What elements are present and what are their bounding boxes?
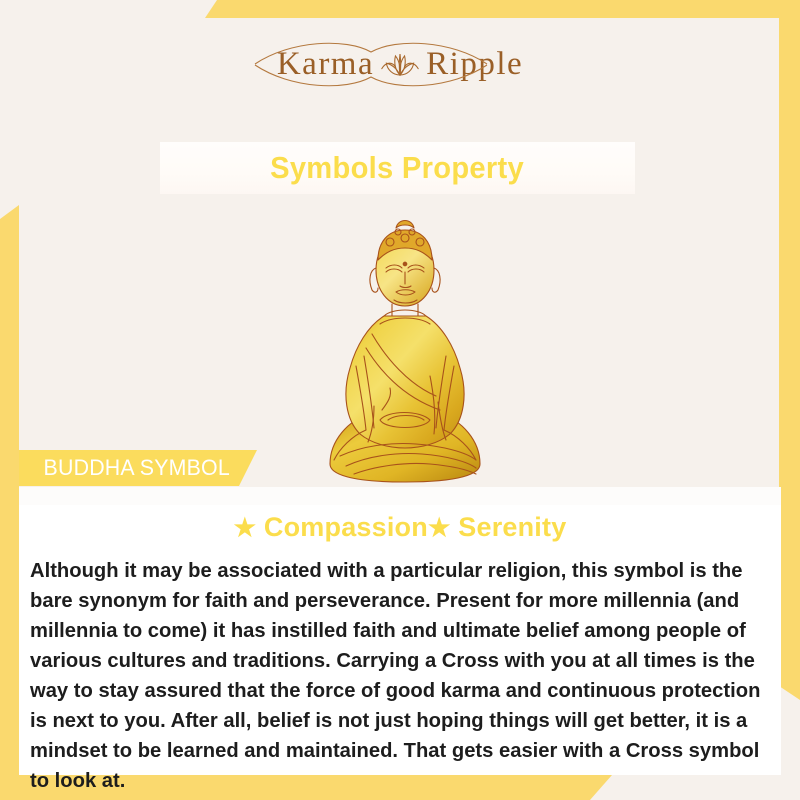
frame-top-bar [205,0,800,18]
buddha-statue-svg [320,198,490,493]
frame-left-bar [0,205,19,800]
brand-logo-text: Karma Ripple [277,48,523,81]
trait-serenity: Serenity [458,512,566,542]
traits-line: ★ Compassion★ Serenity [0,512,800,543]
poster-canvas: Karma Ripple [0,0,800,800]
trait-compassion: Compassion [264,512,428,542]
brand-name-left: Karma [277,48,374,81]
lotus-infinity-icon [380,50,420,80]
ribbon-label: BUDDHA SYMBOL [22,455,230,481]
page-title: Symbols Property [271,150,525,186]
body-paragraph: Although it may be associated with a par… [30,556,761,796]
star-icon-second: ★ [428,514,451,542]
brand-logo[interactable]: Karma Ripple [0,44,800,85]
star-icon-first: ★ [234,514,257,542]
buddha-symbol-ribbon: BUDDHA SYMBOL [19,450,257,486]
buddha-statue-image [320,198,490,493]
title-banner: Symbols Property [160,142,635,194]
brand-logo-wrap: Karma Ripple [251,44,549,85]
frame-right-bar [779,0,800,700]
brand-name-right: Ripple [426,48,523,81]
